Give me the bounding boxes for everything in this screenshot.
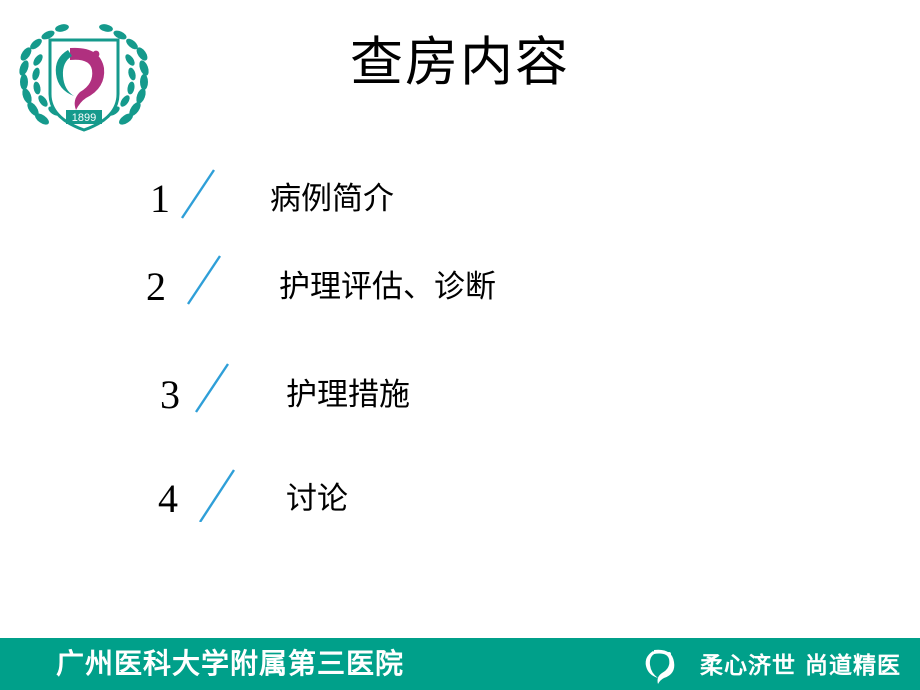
agenda-item-label: 护理措施 [286, 368, 410, 422]
svg-text:1899: 1899 [72, 112, 96, 124]
agenda-item-number: 1 [150, 172, 170, 226]
agenda-list: 1 病例简介 2 护理评估、诊断 3 护理措施 4 讨论 [0, 160, 920, 580]
slash-divider-icon [190, 360, 234, 416]
agenda-item-label: 讨论 [286, 472, 348, 526]
footer-bar: 广州医科大学附属第三医院 柔心济世 尚道精医 [0, 638, 920, 690]
page-title: 查房内容 [0, 34, 920, 92]
footer-slogan: 柔心济世 尚道精医 [700, 646, 901, 680]
agenda-item-number: 2 [146, 260, 166, 314]
agenda-item-label: 病例简介 [270, 172, 394, 226]
agenda-item-number: 3 [160, 368, 180, 422]
slash-divider-icon [194, 466, 238, 522]
agenda-item-number: 4 [158, 472, 178, 526]
slash-divider-icon [176, 166, 220, 222]
agenda-item-label: 护理评估、诊断 [279, 260, 496, 314]
logo-year: 1899 [66, 110, 102, 124]
footer-hospital-name: 广州医科大学附属第三医院 [56, 642, 404, 682]
footer-bird-mark-icon [640, 642, 686, 686]
slash-divider-icon [182, 252, 226, 308]
